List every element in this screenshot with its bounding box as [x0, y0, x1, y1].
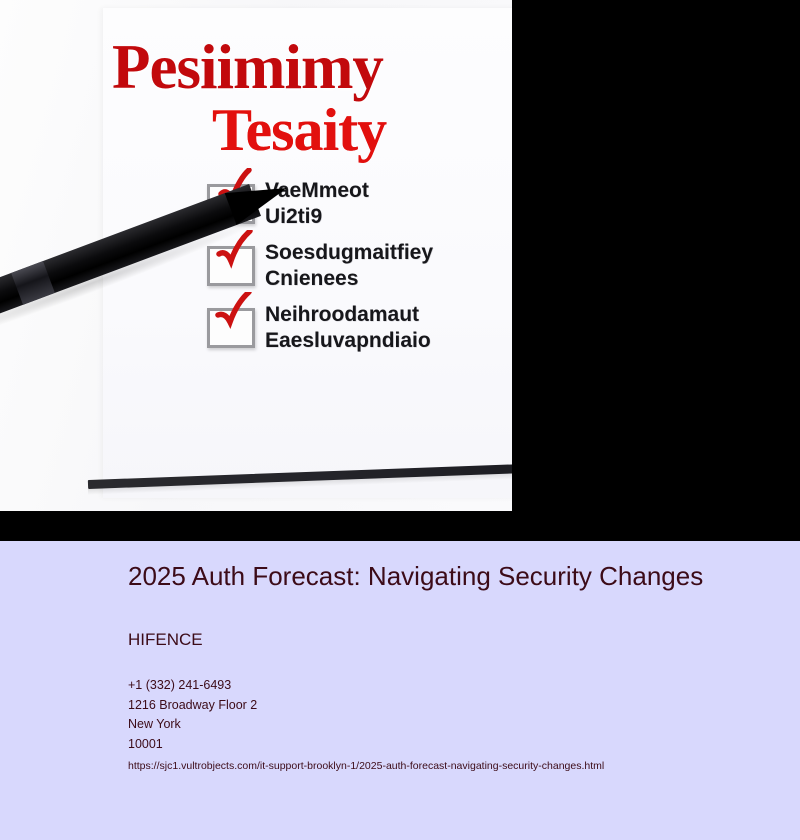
- checklist-item-line2: Eaesluvapndiaio: [265, 328, 512, 354]
- article-content: 2025 Auth Forecast: Navigating Security …: [0, 541, 800, 840]
- contact-postal-code: 10001: [128, 735, 728, 755]
- checklist-item-line1: VaeMmeot: [265, 178, 512, 204]
- company-name: HIFENCE: [128, 630, 203, 650]
- source-url[interactable]: https://sjc1.vultrobjects.com/it-support…: [128, 759, 604, 773]
- image-headline-line1: Pesiimimy: [112, 36, 512, 99]
- checklist-item: Neihroodamaut Eaesluvapndiaio: [207, 302, 512, 364]
- contact-phone[interactable]: +1 (332) 241-6493: [128, 676, 728, 696]
- page-title: 2025 Auth Forecast: Navigating Security …: [128, 561, 728, 591]
- hero-photo: Pesiimimy Tesaity VaeMmeot Ui2ti9: [0, 0, 512, 511]
- contact-city: New York: [128, 715, 728, 735]
- checklist-item-line2: Cnienees: [265, 266, 512, 292]
- contact-block: +1 (332) 241-6493 1216 Broadway Floor 2 …: [128, 676, 728, 754]
- checklist-item-text: Soesdugmaitfiey Cnienees: [265, 240, 512, 291]
- checklist-item-text: Neihroodamaut Eaesluvapndiaio: [265, 302, 512, 353]
- checklist-item-text: VaeMmeot Ui2ti9: [265, 178, 512, 229]
- checklist-item-line1: Neihroodamaut: [265, 302, 512, 328]
- checklist-item-line2: Ui2ti9: [265, 204, 512, 230]
- hero-image-block: Pesiimimy Tesaity VaeMmeot Ui2ti9: [0, 0, 800, 541]
- check-mark-icon: [213, 292, 259, 338]
- checklist-item-line1: Soesdugmaitfiey: [265, 240, 512, 266]
- image-headline-line2: Tesaity: [212, 100, 512, 160]
- contact-address: 1216 Broadway Floor 2: [128, 696, 728, 716]
